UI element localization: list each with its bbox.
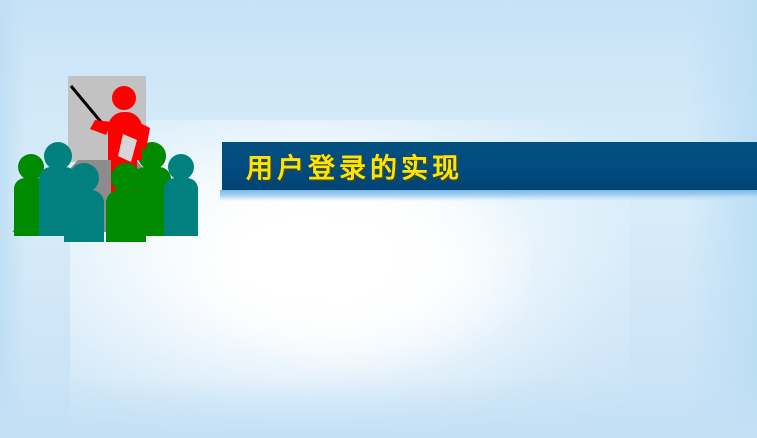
presentation-clipart [0, 60, 210, 242]
audience-figure-green-front [106, 163, 146, 242]
presentation-clipart-svg [0, 60, 210, 242]
title-banner: 用户登录的实现 [222, 142, 757, 190]
title-underbar [220, 190, 757, 197]
background-right-edge [687, 0, 757, 438]
slide-canvas: 用户登录的实现 [0, 0, 757, 438]
slide-title: 用户登录的实现 [246, 147, 463, 186]
background-glow-core [200, 180, 530, 370]
audience-figure-teal-front [64, 163, 104, 242]
audience-figure-teal-right-back [164, 154, 198, 236]
background-top-edge [0, 0, 757, 46]
title-underbar-shadow [220, 197, 757, 201]
background-bottom-edge [0, 378, 757, 438]
